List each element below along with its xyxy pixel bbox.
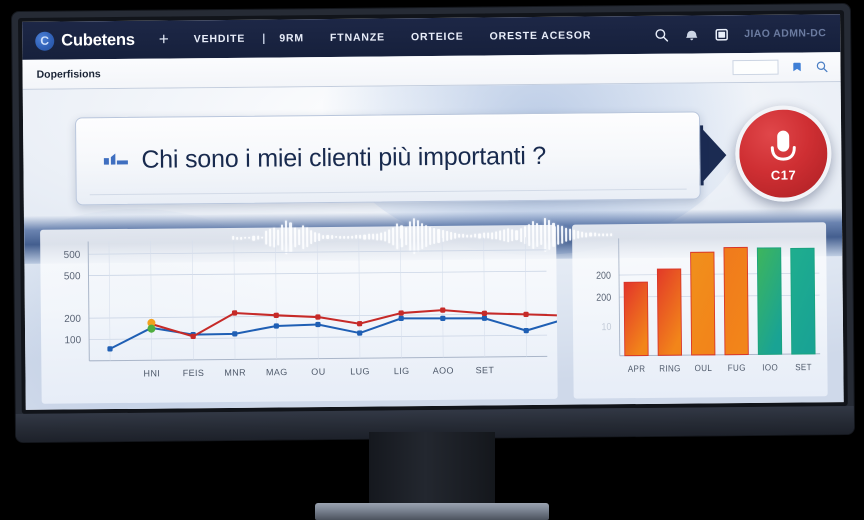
x-axis-tick: AOO bbox=[433, 365, 454, 375]
nav-menu: + VEHDITE | 9RM FTNANZE ORTEICE ORESTE A… bbox=[159, 26, 605, 49]
monitor-frame: C Cubetens + VEHDITE | 9RM FTNANZE ORTEI… bbox=[12, 4, 854, 442]
bar-chart-panel[interactable]: 20020010APRRINGOULFUGIOOSET bbox=[572, 222, 828, 398]
nav-item-orteice[interactable]: ORTEICE bbox=[398, 31, 477, 44]
nav-item-ftnanze[interactable]: FTNANZE bbox=[317, 31, 398, 44]
bar bbox=[624, 282, 648, 356]
bar bbox=[791, 248, 815, 354]
data-point bbox=[315, 322, 320, 327]
x-axis-tick: SET bbox=[476, 365, 495, 375]
sub-toolbar-right bbox=[732, 59, 828, 75]
data-point bbox=[357, 321, 362, 326]
x-axis-tick: LUG bbox=[350, 366, 370, 376]
x-axis-tick: OU bbox=[311, 367, 325, 377]
x-axis-tick: MNR bbox=[224, 367, 246, 377]
user-label[interactable]: JIAO ADMN-DC bbox=[744, 27, 826, 40]
y-axis-tick: 200 bbox=[64, 314, 81, 325]
monitor-icon[interactable] bbox=[714, 27, 729, 42]
question-bar-inner: Chi sono i miei clienti più importanti ? bbox=[89, 122, 687, 196]
dashboard-canvas: Chi sono i miei clienti più importanti ?… bbox=[23, 82, 844, 410]
line-chart: 500500200100HNIFEISMNRMAGOULUGLIGAOOSET bbox=[40, 225, 558, 404]
brand[interactable]: C Cubetens bbox=[35, 30, 135, 50]
x-axis-tick: IOO bbox=[762, 362, 778, 373]
add-button[interactable]: + bbox=[159, 30, 181, 49]
data-point bbox=[440, 316, 445, 321]
bar bbox=[691, 252, 715, 355]
toolbar-input[interactable] bbox=[732, 60, 778, 75]
data-point bbox=[232, 310, 237, 315]
navbar-right: JIAO ADMN-DC bbox=[654, 26, 826, 43]
x-axis-tick: FEIS bbox=[183, 368, 205, 378]
chart-panels: 500500200100HNIFEISMNRMAGOULUGLIGAOOSET … bbox=[24, 222, 844, 410]
x-axis-tick: HNI bbox=[143, 368, 160, 378]
y-axis-tick: 10 bbox=[601, 322, 611, 334]
bar-chart: 20020010APRRINGOULFUGIOOSET bbox=[572, 222, 828, 398]
nav-item-oreste-acesor[interactable]: ORESTE ACESOR bbox=[477, 29, 605, 42]
data-point bbox=[524, 328, 529, 333]
question-bar[interactable]: Chi sono i miei clienti più importanti ? bbox=[75, 111, 701, 205]
data-point bbox=[315, 314, 320, 319]
x-axis-tick: RING bbox=[659, 363, 681, 374]
page-title: Doperfisions bbox=[36, 68, 100, 81]
data-point bbox=[191, 334, 196, 339]
data-point bbox=[232, 331, 237, 336]
brand-name: Cubetens bbox=[61, 30, 135, 50]
bar bbox=[657, 269, 681, 355]
question-arrow-icon bbox=[699, 125, 727, 185]
question-text: Chi sono i miei clienti più importanti ? bbox=[141, 142, 546, 175]
y-axis-tick: 500 bbox=[64, 271, 81, 282]
data-point bbox=[399, 316, 404, 321]
x-axis-tick: APR bbox=[628, 363, 646, 374]
data-point bbox=[107, 346, 112, 351]
bar bbox=[757, 248, 781, 355]
line-series bbox=[110, 317, 558, 349]
x-axis-tick: LIG bbox=[394, 366, 410, 376]
line-chart-panel[interactable]: 500500200100HNIFEISMNRMAGOULUGLIGAOOSET bbox=[40, 225, 558, 404]
x-axis-tick: FUG bbox=[728, 362, 746, 373]
nav-item-9rm[interactable]: 9RM bbox=[266, 32, 317, 44]
nav-item-vehdite[interactable]: VEHDITE bbox=[181, 33, 259, 46]
monitor-stand-neck bbox=[369, 432, 495, 510]
data-point bbox=[274, 323, 279, 328]
data-point bbox=[147, 325, 155, 333]
microphone-label: C17 bbox=[771, 167, 797, 182]
brand-logo-icon: C bbox=[35, 31, 54, 50]
y-axis-tick: 200 bbox=[596, 292, 611, 304]
bar-chart-icon bbox=[103, 151, 129, 169]
data-point bbox=[440, 307, 445, 312]
y-axis-tick: 100 bbox=[64, 335, 81, 346]
data-point bbox=[274, 313, 279, 318]
data-point bbox=[523, 312, 528, 317]
bar bbox=[724, 247, 748, 354]
data-point bbox=[357, 330, 362, 335]
data-point bbox=[482, 311, 487, 316]
screen: C Cubetens + VEHDITE | 9RM FTNANZE ORTEI… bbox=[22, 14, 844, 410]
search-icon[interactable] bbox=[815, 60, 828, 73]
y-axis-tick: 200 bbox=[596, 270, 611, 282]
screenshot-stage: C Cubetens + VEHDITE | 9RM FTNANZE ORTEI… bbox=[0, 0, 864, 520]
x-axis-tick: OUL bbox=[695, 363, 713, 374]
data-point bbox=[399, 310, 404, 315]
brand-logo-glyph: C bbox=[40, 34, 49, 46]
monitor-stand-base bbox=[315, 503, 549, 520]
y-axis-tick: 500 bbox=[64, 250, 81, 261]
x-axis-tick: MAG bbox=[266, 367, 288, 377]
bookmark-icon[interactable] bbox=[790, 60, 803, 73]
data-point bbox=[482, 316, 487, 321]
monitor-bezel: C Cubetens + VEHDITE | 9RM FTNANZE ORTEI… bbox=[18, 10, 848, 414]
search-icon[interactable] bbox=[654, 27, 669, 42]
x-axis-tick: SET bbox=[795, 362, 812, 373]
bell-icon[interactable] bbox=[684, 27, 699, 42]
microphone-icon bbox=[766, 127, 800, 171]
nav-divider-glyph: | bbox=[258, 33, 266, 45]
microphone-button[interactable]: C17 bbox=[735, 105, 832, 202]
